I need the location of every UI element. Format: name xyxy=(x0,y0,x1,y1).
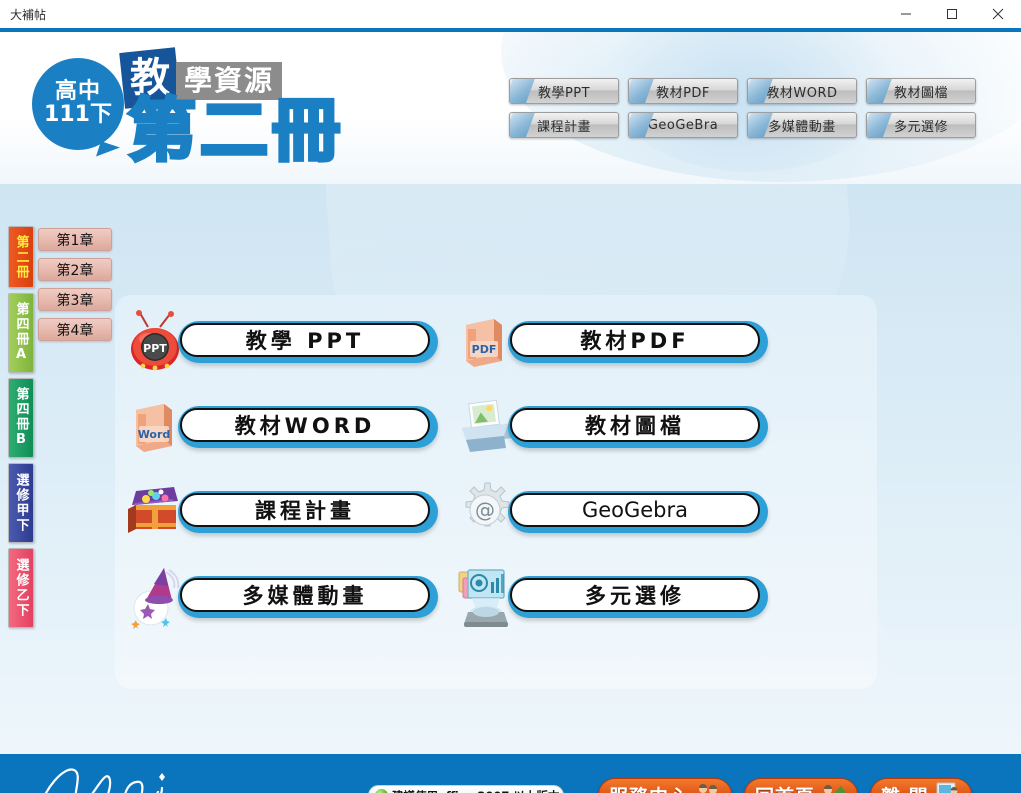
resource-label-text: 學資源 xyxy=(184,67,274,95)
nani-logo xyxy=(30,760,330,793)
chapter-button-4[interactable]: 第4章 xyxy=(38,318,112,341)
svg-text:Word: Word xyxy=(138,428,171,441)
office-note-text: 建議使用office 2007 以上版本 xyxy=(392,788,559,793)
resource-button-word[interactable]: 教材WORD xyxy=(178,406,438,448)
top-nav-row-2: 課程計畫 GeoGeBra 多媒體動畫 多元選修 xyxy=(509,112,989,138)
svg-text:@: @ xyxy=(475,498,495,522)
topnav-label: 多元選修 xyxy=(894,116,948,135)
volume-tab-label: 第二冊 xyxy=(12,235,31,280)
resource-grid: PPT 教學 PPT xyxy=(116,309,876,649)
minimize-icon[interactable] xyxy=(883,0,929,28)
pill-face: 多媒體動畫 xyxy=(180,578,430,612)
resource-row: Word 教材WORD xyxy=(116,394,876,479)
home-icon xyxy=(821,782,847,793)
resource-button-electives[interactable]: 多元選修 xyxy=(508,576,768,618)
resource-row: 多媒體動畫 xyxy=(116,564,876,649)
volume-tab-label: 第四冊A xyxy=(12,302,31,364)
chapter-button-1[interactable]: 第1章 xyxy=(38,228,112,251)
resource-label: 課程計畫 xyxy=(255,495,355,525)
window-title: 大補帖 xyxy=(10,6,46,23)
resource-button-images[interactable]: 教材圖檔 xyxy=(508,406,768,448)
resource-button-pdf[interactable]: 教材PDF xyxy=(508,321,768,363)
pill-face: 多元選修 xyxy=(510,578,760,612)
pill-face: 教材PDF xyxy=(510,323,760,357)
resource-label: 多媒體動畫 xyxy=(243,580,368,610)
resource-label: GeoGebra xyxy=(582,498,688,522)
header-band: 高中 111下 教 學資源 第二冊 教學PPT 教材PDF 教材WORD 教材圖… xyxy=(0,32,1021,184)
pill-face: 教材WORD xyxy=(180,408,430,442)
topnav-button-ppt[interactable]: 教學PPT xyxy=(509,78,619,104)
resource-button-multimedia[interactable]: 多媒體動畫 xyxy=(178,576,438,618)
window-controls xyxy=(883,0,1021,28)
topnav-label: GeoGeBra xyxy=(648,118,718,133)
top-nav-row-1: 教學PPT 教材PDF 教材WORD 教材圖檔 xyxy=(509,78,989,104)
pill-face: GeoGebra xyxy=(510,493,760,527)
topnav-label: 多媒體動畫 xyxy=(768,116,836,135)
volume-tab-label: 選修乙下 xyxy=(12,558,31,618)
sidebar-tab-volume-4a[interactable]: 第四冊A xyxy=(8,293,34,373)
resource-label: 教學 PPT xyxy=(246,325,364,355)
exit-door-icon xyxy=(935,782,961,793)
exit-button[interactable]: 離 開 xyxy=(870,778,972,793)
play-icon xyxy=(375,789,388,793)
topnav-label: 教學PPT xyxy=(538,82,590,101)
chapter-list: 第1章 第2章 第3章 第4章 xyxy=(38,228,116,348)
resource-cell: @ GeoGebra xyxy=(446,479,786,564)
volume-title: 第二冊 xyxy=(128,98,344,166)
topnav-button-word[interactable]: 教材WORD xyxy=(747,78,857,104)
topnav-button-geogebra[interactable]: GeoGeBra xyxy=(628,112,738,138)
home-button[interactable]: 回首頁 xyxy=(744,778,858,793)
volume-tab-label: 選修甲下 xyxy=(12,473,31,533)
resource-cell: PDF 教材PDF xyxy=(446,309,786,394)
service-center-button[interactable]: 服務中心 xyxy=(598,778,732,793)
resource-label: 教材PDF xyxy=(580,325,689,355)
volume-tab-rail: 第二冊 第四冊A 第四冊B 選修甲下 選修乙下 xyxy=(8,226,34,633)
resource-cell: 多媒體動畫 xyxy=(116,564,456,649)
resource-cell: 多元選修 xyxy=(446,564,786,649)
resource-button-course-plan[interactable]: 課程計畫 xyxy=(178,491,438,533)
topnav-label: 教材圖檔 xyxy=(894,82,948,101)
application-window: 高中 111下 教 學資源 第二冊 教學PPT 教材PDF 教材WORD 教材圖… xyxy=(0,32,1021,793)
resource-cell: 課程計畫 xyxy=(116,479,456,564)
resource-row: 課程計畫 @ xyxy=(116,479,876,564)
resource-label: 教材圖檔 xyxy=(585,410,685,440)
office-version-note: 建議使用office 2007 以上版本 xyxy=(368,785,564,793)
sidebar-tab-volume-2[interactable]: 第二冊 xyxy=(8,226,34,288)
exit-label: 離 開 xyxy=(881,782,929,793)
topnav-button-multimedia[interactable]: 多媒體動畫 xyxy=(747,112,857,138)
sidebar-tab-volume-4b[interactable]: 第四冊B xyxy=(8,378,34,458)
grade-badge-line1: 高中 xyxy=(55,80,101,103)
resource-label: 多元選修 xyxy=(585,580,685,610)
top-nav: 教學PPT 教材PDF 教材WORD 教材圖檔 課程計畫 GeoGeBra 多媒… xyxy=(509,78,989,146)
grade-badge-line2: 111下 xyxy=(44,103,112,127)
grade-badge: 高中 111下 xyxy=(32,58,124,150)
resource-button-ppt[interactable]: 教學 PPT xyxy=(178,321,438,363)
main-content-area: 第二冊 第四冊A 第四冊B 選修甲下 選修乙下 第1章 第2章 第3章 第4章 xyxy=(0,184,1021,754)
close-icon[interactable] xyxy=(975,0,1021,28)
sidebar-tab-elective-a[interactable]: 選修甲下 xyxy=(8,463,34,543)
topnav-button-electives[interactable]: 多元選修 xyxy=(866,112,976,138)
topnav-label: 教材PDF xyxy=(656,82,710,101)
resource-cell: Word 教材WORD xyxy=(116,394,456,479)
maximize-icon[interactable] xyxy=(929,0,975,28)
brand-logo: 高中 111下 教 學資源 第二冊 xyxy=(18,40,348,180)
topnav-button-course-plan[interactable]: 課程計畫 xyxy=(509,112,619,138)
resource-button-geogebra[interactable]: GeoGebra xyxy=(508,491,768,533)
pill-face: 課程計畫 xyxy=(180,493,430,527)
topnav-label: 課程計畫 xyxy=(537,116,591,135)
resource-cell: PPT 教學 PPT xyxy=(116,309,456,394)
svg-text:PDF: PDF xyxy=(472,343,497,356)
window-title-bar: 大補帖 xyxy=(0,0,1021,28)
volume-tab-label: 第四冊B xyxy=(12,387,31,449)
footer-button-group: 服務中心 回首頁 xyxy=(598,778,972,793)
topnav-label: 教材WORD xyxy=(766,82,837,101)
people-icon xyxy=(695,782,721,793)
sidebar-tab-elective-b[interactable]: 選修乙下 xyxy=(8,548,34,628)
resource-label: 教材WORD xyxy=(235,410,376,440)
resource-row: PPT 教學 PPT xyxy=(116,309,876,394)
service-center-label: 服務中心 xyxy=(609,782,689,793)
home-label: 回首頁 xyxy=(755,782,815,793)
resource-cell: 教材圖檔 xyxy=(446,394,786,479)
chapter-button-2[interactable]: 第2章 xyxy=(38,258,112,281)
svg-text:PPT: PPT xyxy=(143,342,167,355)
chapter-button-3[interactable]: 第3章 xyxy=(38,288,112,311)
pill-face: 教學 PPT xyxy=(180,323,430,357)
pill-face: 教材圖檔 xyxy=(510,408,760,442)
topnav-button-pdf[interactable]: 教材PDF xyxy=(628,78,738,104)
topnav-button-images[interactable]: 教材圖檔 xyxy=(866,78,976,104)
